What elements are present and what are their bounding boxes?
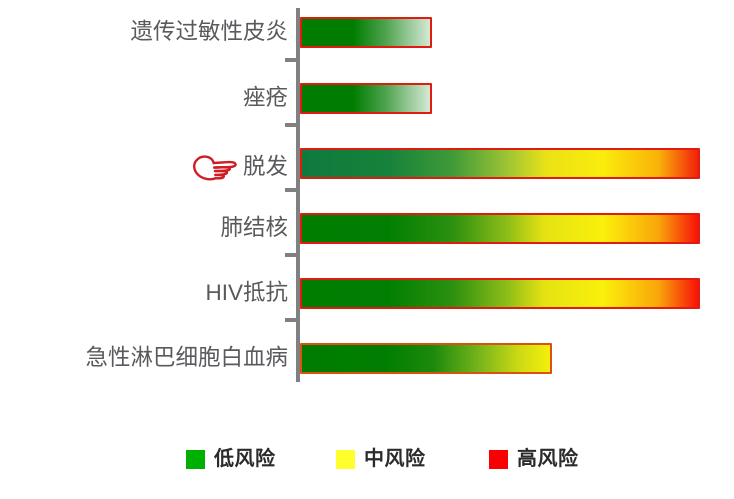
category-label-5: 急性淋巴细胞白血病 [0, 347, 288, 370]
pointing-hand-icon [192, 153, 238, 183]
bar-fill [302, 215, 698, 242]
bar-fill [302, 19, 430, 46]
category-label-text: 急性淋巴细胞白血病 [85, 347, 288, 370]
category-label-text: 遗传过敏性皮炎 [130, 21, 288, 44]
category-label-2: 脱发 [0, 152, 288, 182]
axis-tick [285, 318, 297, 322]
category-label-text: HIV抵抗 [205, 282, 288, 305]
category-label-0: 遗传过敏性皮炎 [0, 21, 288, 44]
legend-item-medium-risk[interactable]: 中风险 [336, 443, 426, 475]
legend-item-low-risk[interactable]: 低风险 [186, 443, 276, 475]
legend-label-low-risk: 低风险 [214, 449, 276, 469]
axis-tick [285, 253, 297, 257]
axis-tick [285, 188, 297, 192]
legend-label-high-risk: 高风险 [517, 449, 579, 469]
bar-fill [302, 280, 698, 307]
bar-fill [302, 85, 430, 112]
category-label-4: HIV抵抗 [0, 282, 288, 305]
legend-swatch-low-risk [186, 450, 205, 469]
bar-2[interactable] [300, 148, 700, 179]
legend-swatch-medium-risk [336, 450, 355, 469]
bar-5[interactable] [300, 343, 552, 374]
bar-4[interactable] [300, 278, 700, 309]
legend-item-high-risk[interactable]: 高风险 [489, 443, 579, 475]
legend: 低风险 中风险 高风险 [0, 443, 734, 483]
category-label-3: 肺结核 [0, 217, 288, 240]
bar-fill [302, 345, 550, 372]
bar-1[interactable] [300, 83, 432, 114]
category-label-text: 脱发 [243, 156, 288, 179]
category-label-1: 痤疮 [0, 87, 288, 110]
category-axis-line [296, 8, 300, 382]
axis-tick [285, 123, 297, 127]
legend-label-medium-risk: 中风险 [364, 449, 426, 469]
risk-bar-chart: 遗传过敏性皮炎 痤疮 [0, 0, 734, 499]
category-label-text: 痤疮 [243, 87, 288, 110]
plot-area: 遗传过敏性皮炎 痤疮 [0, 0, 734, 400]
legend-swatch-high-risk [489, 450, 508, 469]
axis-tick [285, 58, 297, 62]
bar-fill [302, 150, 698, 177]
bar-3[interactable] [300, 213, 700, 244]
category-label-text: 肺结核 [220, 217, 288, 240]
bar-0[interactable] [300, 17, 432, 48]
